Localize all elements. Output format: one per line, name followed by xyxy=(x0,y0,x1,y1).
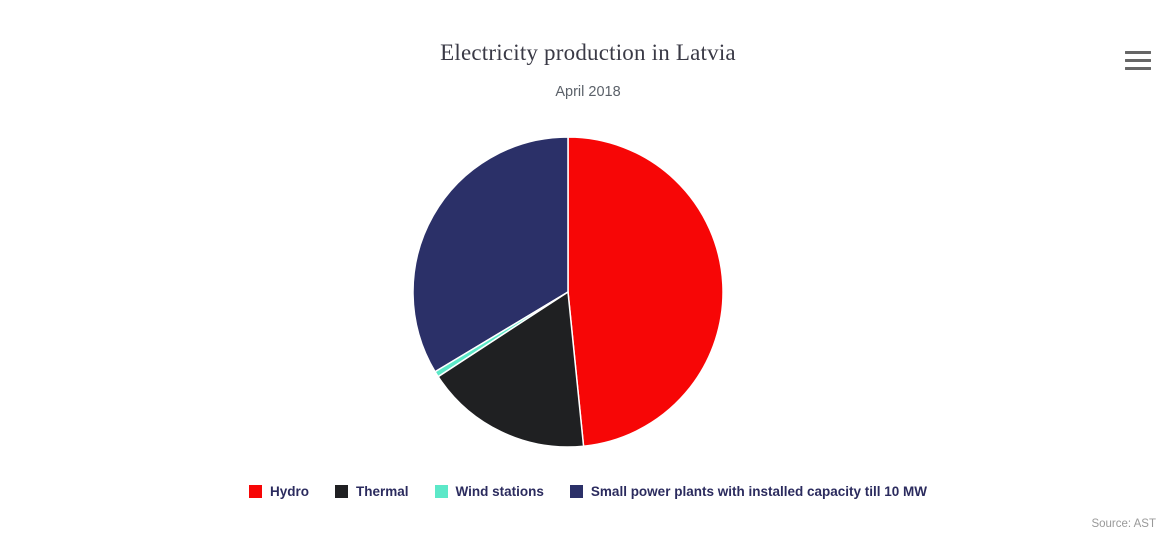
chart-legend: Hydro Thermal Wind stations Small power … xyxy=(0,485,1176,499)
legend-swatch-icon xyxy=(249,485,262,498)
legend-item-label: Small power plants with installed capaci… xyxy=(591,485,927,499)
pie-slice-group xyxy=(413,137,723,447)
legend-item-label: Hydro xyxy=(270,485,309,499)
menu-bar-top xyxy=(1125,51,1151,54)
legend-item-label: Wind stations xyxy=(456,485,544,499)
credits-label[interactable]: Source: AST xyxy=(1091,518,1156,530)
legend-item-wind-stations[interactable]: Wind stations xyxy=(435,485,544,499)
chart-subtitle: April 2018 xyxy=(0,84,1176,100)
pie-slice[interactable] xyxy=(568,137,723,446)
legend-swatch-icon xyxy=(435,485,448,498)
legend-item-thermal[interactable]: Thermal xyxy=(335,485,409,499)
legend-swatch-icon xyxy=(570,485,583,498)
legend-swatch-icon xyxy=(335,485,348,498)
page-title: Electricity production in Latvia xyxy=(0,40,1176,66)
legend-item-hydro[interactable]: Hydro xyxy=(249,485,309,499)
legend-item-label: Thermal xyxy=(356,485,409,499)
hamburger-menu-icon[interactable] xyxy=(1124,48,1152,73)
pie-chart xyxy=(0,0,1176,540)
menu-bar-bottom xyxy=(1125,67,1151,70)
legend-item-small-power-plants[interactable]: Small power plants with installed capaci… xyxy=(570,485,927,499)
menu-bar-middle xyxy=(1125,59,1151,62)
pie-chart-svg xyxy=(0,0,1176,540)
